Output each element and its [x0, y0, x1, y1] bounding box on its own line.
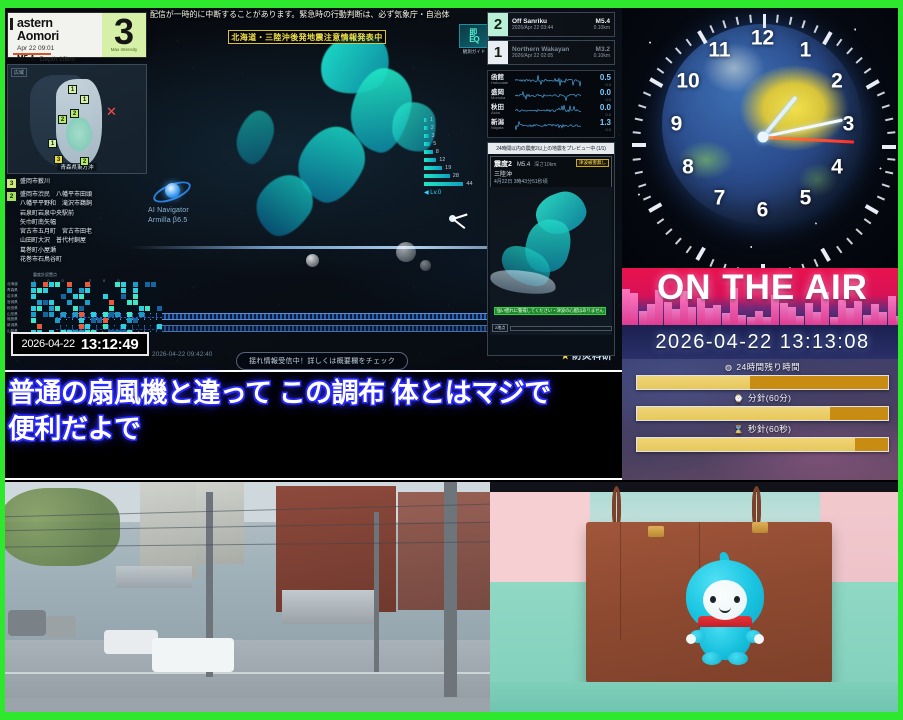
- histogram-row: 8: [424, 148, 480, 155]
- seismograph-panel: 函館Hakodate0.50.0盛岡Morioka0.00.0秋田Akita0.…: [487, 70, 615, 138]
- matrix-cell: [133, 300, 138, 305]
- webcam-street-lamp: [374, 512, 379, 672]
- matrix-cell: [49, 306, 54, 311]
- city-intensity-badge: 3: [7, 179, 16, 188]
- matrix-cell: [31, 288, 36, 293]
- webcam-vehicle: [46, 616, 76, 638]
- station-value-box: 0.50.0: [590, 74, 611, 87]
- bag-clasp-left: [648, 526, 664, 537]
- matrix-cell: [109, 324, 114, 329]
- equalizer-bar: [846, 308, 854, 325]
- matrix-cell: [151, 306, 156, 311]
- matrix-cell: [73, 312, 78, 317]
- matrix-cell: [91, 282, 96, 287]
- matrix-cell: [109, 294, 114, 299]
- matrix-cell: [91, 294, 96, 299]
- matrix-cell: [115, 282, 120, 287]
- preview-progress-track: [510, 326, 612, 331]
- broadcast-timestamp: 2026-04-22 13:13:08: [655, 331, 869, 354]
- ai-navigator-caption: AI Navigator Armilla β6.5: [148, 206, 189, 226]
- matrix-cell: [157, 288, 162, 293]
- eew-intensity-value: 3: [114, 18, 134, 47]
- station-value-box: 0.00.0: [590, 89, 611, 102]
- eew-datetime: Apr 22 09:01: [17, 45, 97, 52]
- matrix-cell: [139, 294, 144, 299]
- matrix-cell: [115, 312, 120, 317]
- matrix-cell: [121, 324, 126, 329]
- clock-numeral: 9: [671, 114, 683, 135]
- city-list-group[interactable]: 2盛岡市渋民 八幡平市田頭八幡平平野和 滝沢市鵜飼岩泉町岩泉中央駅前矢巾町南矢幅…: [7, 191, 149, 265]
- matrix-cell: [31, 318, 36, 323]
- equalizer-bar: [747, 317, 755, 325]
- matrix-cell: [157, 312, 162, 317]
- matrix-cell: [157, 330, 162, 335]
- matrix-cell: [67, 318, 72, 323]
- matrix-cell: [103, 282, 108, 287]
- matrix-cell: [79, 312, 84, 317]
- news-ticker: 配信が一時的に中断することがあります。緊急時の行動判断は、必ず気象庁・自治体等の…: [150, 9, 450, 23]
- matrix-cell: [121, 288, 126, 293]
- matrix-cell: [97, 288, 102, 293]
- plush-charm: [686, 552, 764, 662]
- matrix-cell: [121, 300, 126, 305]
- intensity-city-list[interactable]: 3盛岡市薮川2盛岡市渋民 八幡平市田頭八幡平平野和 滝沢市鵜飼岩泉町岩泉中央駅前…: [7, 178, 149, 268]
- matrix-cell: [37, 300, 42, 305]
- earth-analog-clock: 121234567891011: [622, 6, 903, 268]
- plush-foot-left: [702, 652, 722, 665]
- equalizer-bar: [647, 304, 655, 325]
- equalizer-bar: [738, 315, 746, 325]
- seismograph-station-row: 函館Hakodate0.50.0: [491, 73, 611, 88]
- matrix-cell: [115, 288, 120, 293]
- matrix-cell: [151, 318, 156, 323]
- matrix-cell: [121, 312, 126, 317]
- station-value-sub: 0.0: [590, 97, 611, 102]
- observation-guide-badge[interactable]: 即EQ 観測ガイド: [459, 24, 489, 56]
- on-the-air-text: ON THE AIR: [622, 270, 903, 307]
- matrix-cell: [133, 324, 138, 329]
- eew-alert-details: astern Aomori Apr 22 09:01 M5.1 Depth 10…: [8, 13, 102, 57]
- station-name-en: Morioka: [491, 96, 515, 101]
- station-name-box: 函館Hakodate: [491, 75, 515, 86]
- matrix-cell: [61, 294, 66, 299]
- matrix-cell: [145, 300, 150, 305]
- matrix-cell: [67, 294, 72, 299]
- matrix-cell: [103, 288, 108, 293]
- matrix-cell: [127, 312, 132, 317]
- eq-depth: 0.10km: [594, 25, 610, 31]
- matrix-cell: [103, 300, 108, 305]
- matrix-cell: [67, 282, 72, 287]
- matrix-cell: [145, 288, 150, 293]
- progress-bar-icon: ◍: [725, 363, 732, 372]
- histogram-row: 19: [424, 164, 480, 171]
- station-value-box: 0.00.0: [590, 104, 611, 117]
- matrix-cell: [37, 324, 42, 329]
- clock-numeral: 1: [800, 39, 812, 60]
- earthquake-preview-panel[interactable]: 24時間以内の震度2以上の地震をプレビュー中 (1/1) 津波被害無し 震度2 …: [487, 142, 615, 356]
- matrix-cell: [115, 300, 120, 305]
- matrix-cell: [127, 288, 132, 293]
- epicenter-marker-icon: ✕: [106, 105, 117, 118]
- clock-numeral: 5: [800, 188, 812, 209]
- preview-tsunami-tag: 津波被害無し: [576, 159, 609, 167]
- eew-intensity-block: 3 Max Intensity: [102, 13, 146, 57]
- progress-bar-fill: [637, 407, 830, 420]
- matrix-cell: [37, 282, 42, 287]
- matrix-cell: [85, 294, 90, 299]
- matrix-cell: [49, 318, 54, 323]
- matrix-cell: [139, 324, 144, 329]
- earthquake-list-item[interactable]: 2Off Sanriku2026/Apr 22 03:44M5.40.10km: [487, 12, 615, 37]
- matrix-cell: [61, 324, 66, 329]
- matrix-cell: [31, 300, 36, 305]
- preview-title: 24時間以内の震度2以上の地震をプレビュー中 (1/1): [488, 143, 614, 154]
- histogram-row: 3: [424, 132, 480, 139]
- matrix-cell: [43, 324, 48, 329]
- clock-numeral: 4: [831, 157, 843, 178]
- matrix-cell: [49, 312, 54, 317]
- product-showcase-view: [490, 482, 903, 720]
- equalizer-bar: [688, 307, 696, 325]
- matrix-cell: [55, 324, 60, 329]
- subtitle-overlay: 普通の扇風機と違って この調布 体とはマジで 便利だよで: [0, 370, 622, 480]
- radar-compass-icon: [424, 190, 482, 248]
- matrix-cell: [79, 294, 84, 299]
- eew-magnitude: M5.1: [17, 54, 35, 63]
- matrix-cell: [73, 294, 78, 299]
- map-region-caption: 青森県東方沖: [57, 163, 96, 171]
- equalizer-bar: [796, 316, 804, 325]
- matrix-row-labels: 北海道青森県岩手県宮城県秋田県山形県福島県新潟県山梨県: [7, 282, 18, 335]
- seismograph-station-row: 秋田Akita0.00.0: [491, 103, 611, 118]
- seismograph-waveform: [515, 89, 590, 102]
- city-names: 盛岡市薮川: [20, 178, 50, 188]
- on-the-air-banner: ON THE AIR: [622, 268, 903, 325]
- histogram-row: 12: [424, 156, 480, 163]
- frame-border-left: [0, 0, 5, 720]
- matrix-cell: [133, 294, 138, 299]
- matrix-cell: [151, 324, 156, 329]
- eq-region-name: Off Sanriku: [512, 18, 590, 26]
- eq-depth: 0.10km: [594, 53, 610, 59]
- eq-magnitude: M3.2: [594, 46, 610, 53]
- warning-banner: 北海道・三陸沖後発地震注意情報発表中: [228, 30, 386, 44]
- progress-bar-text: 分針(60分): [748, 392, 791, 404]
- progress-bar-group: ◍24時間残り時間: [636, 361, 889, 390]
- matrix-cell: [85, 324, 90, 329]
- station-name-en: Niigata: [491, 126, 515, 131]
- matrix-cells: [31, 282, 162, 335]
- equalizer-bar: [830, 317, 838, 325]
- matrix-cell: [97, 282, 102, 287]
- matrix-cell: [127, 282, 132, 287]
- intensity-matrix-chart: 震度計設置点 100 200 30 40 北海道青森県岩手県宮城県秋田県山形県福…: [7, 272, 153, 330]
- matrix-cell: [61, 306, 66, 311]
- matrix-cell: [43, 312, 48, 317]
- radar-toast-message: 揺れ情報受信中！詳しくは概要欄をチェック: [236, 352, 408, 370]
- progress-bar-text: 秒針(60秒): [748, 423, 791, 435]
- matrix-cell: [157, 324, 162, 329]
- plush-eye-right: [734, 596, 740, 603]
- station-value-box: 1.30.0: [590, 119, 611, 132]
- station-name-en: Hakodate: [491, 81, 515, 86]
- matrix-cell: [73, 300, 78, 305]
- clock-numeral: 12: [751, 28, 774, 49]
- matrix-cell: [97, 318, 102, 323]
- matrix-cell: [97, 294, 102, 299]
- eew-region-name: astern Aomori: [17, 17, 97, 42]
- matrix-cell: [61, 288, 66, 293]
- seismograph-waveform: [515, 74, 590, 87]
- preview-depth: 深さ10km: [534, 162, 556, 168]
- city-list-group[interactable]: 3盛岡市薮川: [7, 178, 149, 188]
- matrix-cell: [133, 306, 138, 311]
- clock-time: 13:12:49: [81, 336, 139, 353]
- matrix-cell: [85, 306, 90, 311]
- histogram-row: 28: [424, 172, 480, 179]
- matrix-cell: [109, 312, 114, 317]
- matrix-cell: [31, 294, 36, 299]
- histogram-row: 2: [424, 124, 480, 131]
- matrix-cell: [145, 294, 150, 299]
- webcam-utility-pole: [444, 482, 457, 697]
- matrix-cell: [49, 294, 54, 299]
- eq-item-body: Off Sanriku2026/Apr 22 03:44: [508, 18, 594, 32]
- ai-navigator-icon: [152, 174, 192, 210]
- matrix-cell: [73, 324, 78, 329]
- seismograph-waveform: [515, 104, 590, 117]
- map-intensity-overlay: [66, 117, 92, 151]
- earthquake-list-item[interactable]: 1Northern Wakayan2026/Apr 22 02:05M3.20.…: [487, 40, 615, 65]
- station-value: 0.0: [590, 89, 611, 97]
- matrix-cell: [145, 318, 150, 323]
- seismograph-waveform: [515, 119, 590, 132]
- matrix-cell: [55, 312, 60, 317]
- matrix-cell: [49, 288, 54, 293]
- matrix-cell: [133, 312, 138, 317]
- matrix-cell: [55, 294, 60, 299]
- matrix-cell: [145, 306, 150, 311]
- matrix-cell: [91, 318, 96, 323]
- matrix-cell: [73, 282, 78, 287]
- matrix-cell: [121, 318, 126, 323]
- matrix-cell: [121, 282, 126, 287]
- matrix-cell: [157, 306, 162, 311]
- station-value-sub: 0.0: [590, 82, 611, 87]
- matrix-cell: [109, 318, 114, 323]
- station-value-sub: 0.0: [590, 127, 611, 132]
- histogram-row: 44: [424, 180, 480, 187]
- matrix-cell: [31, 282, 36, 287]
- radar-clock-readout: 2026-04-22 13:12:49: [11, 332, 149, 356]
- progress-bar-label: ⌛秒針(60秒): [636, 423, 889, 435]
- eew-magnitude-row: M5.1 Depth 10km: [17, 54, 97, 63]
- matrix-cell: [127, 294, 132, 299]
- matrix-cell: [91, 300, 96, 305]
- equalizer-bar: [705, 308, 713, 325]
- matrix-cell: [61, 318, 66, 323]
- progress-bar-fill: [637, 376, 750, 389]
- matrix-cell: [43, 318, 48, 323]
- matrix-cell: [139, 312, 144, 317]
- equalizer-bar: [755, 311, 763, 325]
- recent-earthquake-list[interactable]: 2Off Sanriku2026/Apr 22 03:44M5.40.10km1…: [487, 12, 615, 67]
- guide-badge-glyph: 即EQ: [469, 29, 479, 43]
- matrix-cell: [31, 312, 36, 317]
- matrix-cell: [37, 294, 42, 299]
- matrix-cell: [85, 300, 90, 305]
- progress-bar-track: [636, 406, 889, 421]
- eew-accent-stripe: [10, 18, 13, 30]
- matrix-cell: [43, 282, 48, 287]
- map-intensity-marker: 1: [80, 95, 89, 104]
- equalizer-bar: [879, 312, 887, 325]
- preview-japan-map: 強い揺れに警戒してください・津波の心配はありません 2地点: [490, 187, 612, 335]
- progress-bar-group: ⌛秒針(60秒): [636, 423, 889, 452]
- eew-alert-card[interactable]: astern Aomori Apr 22 09:01 M5.1 Depth 10…: [7, 12, 147, 58]
- clock-tick: [775, 15, 778, 23]
- matrix-cell: [91, 288, 96, 293]
- station-value-sub: 0.0: [590, 112, 611, 117]
- matrix-cell: [79, 288, 84, 293]
- matrix-cell: [55, 318, 60, 323]
- matrix-cell: [85, 288, 90, 293]
- matrix-cell: [151, 312, 156, 317]
- countdown-progress-panel: ◍24時間残り時間⌚分針(60分)⌛秒針(60秒): [622, 359, 903, 480]
- progress-bar-text: 24時間残り時間: [736, 361, 800, 373]
- matrix-cell: [139, 306, 144, 311]
- webcam-shop-canopy: [282, 590, 378, 624]
- station-name-box: 盛岡Morioka: [491, 90, 515, 101]
- map-intensity-marker: 1: [48, 139, 57, 148]
- matrix-cell: [151, 294, 156, 299]
- clock-numeral: 8: [682, 157, 694, 178]
- equalizer-bar: [813, 312, 821, 325]
- equalizer-bar: [788, 307, 796, 325]
- matrix-cell: [133, 282, 138, 287]
- clock-numeral: 3: [843, 114, 855, 135]
- eew-depth: Depth 10km: [40, 56, 75, 63]
- matrix-cell: [37, 306, 42, 311]
- city-names: 盛岡市渋民 八幡平市田頭八幡平平野和 滝沢市鵜飼岩泉町岩泉中央駅前矢巾町南矢幅宮…: [20, 191, 92, 265]
- equalizer-bar: [672, 309, 680, 325]
- matrix-cell: [109, 282, 114, 287]
- equalizer-bar: [639, 311, 647, 325]
- product-background-wall: [490, 492, 590, 582]
- equalizer-bar: [863, 315, 871, 325]
- eew-underline: [13, 53, 51, 55]
- matrix-cell: [67, 300, 72, 305]
- matrix-cell: [115, 324, 120, 329]
- matrix-cell: [55, 282, 60, 287]
- clock-numeral: 7: [714, 188, 726, 209]
- eew-max-intensity-label: Max Intensity: [111, 47, 138, 52]
- matrix-cell: [79, 318, 84, 323]
- earth-globe-graphic: [662, 24, 862, 224]
- broadcast-timestamp-bar: 2026-04-22 13:13:08: [622, 325, 903, 359]
- eq-intensity-badge: 2: [488, 13, 508, 36]
- progress-bar-fill: [637, 438, 855, 451]
- matrix-cell: [79, 324, 84, 329]
- matrix-cell: [121, 306, 126, 311]
- matrix-cell: [73, 318, 78, 323]
- clock-center-pivot: [757, 132, 768, 143]
- matrix-cell: [43, 306, 48, 311]
- matrix-cell: [85, 312, 90, 317]
- matrix-cell: [103, 318, 108, 323]
- subtitle-line-2: 便利だよで: [8, 412, 616, 448]
- preview-footer: 2地点: [492, 323, 612, 333]
- matrix-cell: [109, 300, 114, 305]
- clock-date: 2026-04-22: [22, 338, 75, 350]
- preview-datetime: 4月22日 3時43分51秒頃: [494, 178, 608, 185]
- regional-intensity-map[interactable]: ✕ 広域 青森県東方沖 1122132: [7, 64, 147, 174]
- webcam-building: [140, 482, 198, 578]
- matrix-cell: [139, 318, 144, 323]
- matrix-cell: [97, 312, 102, 317]
- matrix-cell: [127, 306, 132, 311]
- progress-bar-label: ◍24時間残り時間: [636, 361, 889, 373]
- matrix-cell: [49, 324, 54, 329]
- eq-item-metrics: M3.20.10km: [594, 46, 614, 59]
- matrix-cell: [151, 282, 156, 287]
- progress-bar-track: [636, 437, 889, 452]
- matrix-cell: [133, 318, 138, 323]
- clock-tick: [632, 144, 646, 148]
- webcam-vehicle: [152, 638, 234, 672]
- station-name-en: Akita: [491, 111, 515, 116]
- matrix-cell: [157, 294, 162, 299]
- matrix-cell: [85, 282, 90, 287]
- radar-timestamp: 2026-04-22 09:42:40: [152, 351, 212, 358]
- radar-orb: [420, 260, 431, 271]
- progress-bar-group: ⌚分針(60分): [636, 392, 889, 421]
- product-top-bar: [490, 482, 903, 492]
- map-scope-label: 広域: [11, 68, 27, 77]
- clock-numeral: 10: [676, 71, 699, 92]
- progress-bar-icon: ⌚: [734, 394, 744, 403]
- matrix-cell: [61, 282, 66, 287]
- matrix-cell: [43, 288, 48, 293]
- street-webcam-view: [0, 482, 490, 720]
- station-name-box: 秋田Akita: [491, 105, 515, 116]
- progress-bar-track: [636, 375, 889, 390]
- clock-numeral: 6: [757, 200, 769, 221]
- clock-numeral: 2: [831, 71, 843, 92]
- matrix-cell: [67, 288, 72, 293]
- map-intensity-marker: 2: [70, 109, 79, 118]
- matrix-cell: [103, 294, 108, 299]
- eq-region-name: Northern Wakayan: [512, 46, 590, 54]
- matrix-cell: [157, 282, 162, 287]
- matrix-cell: [37, 312, 42, 317]
- matrix-cell: [73, 306, 78, 311]
- guide-badge-icon: 即EQ: [459, 24, 489, 48]
- matrix-cell: [139, 282, 144, 287]
- matrix-cell: [157, 300, 162, 305]
- matrix-cell: [151, 330, 156, 335]
- matrix-cell: [127, 318, 132, 323]
- histogram-row: 5: [424, 140, 480, 147]
- matrix-cell: [37, 288, 42, 293]
- matrix-cell: [127, 324, 132, 329]
- matrix-cell: [145, 282, 150, 287]
- matrix-cell: [85, 318, 90, 323]
- matrix-cell: [55, 300, 60, 305]
- matrix-cell: [97, 324, 102, 329]
- preview-point-count: 2地点: [492, 324, 508, 332]
